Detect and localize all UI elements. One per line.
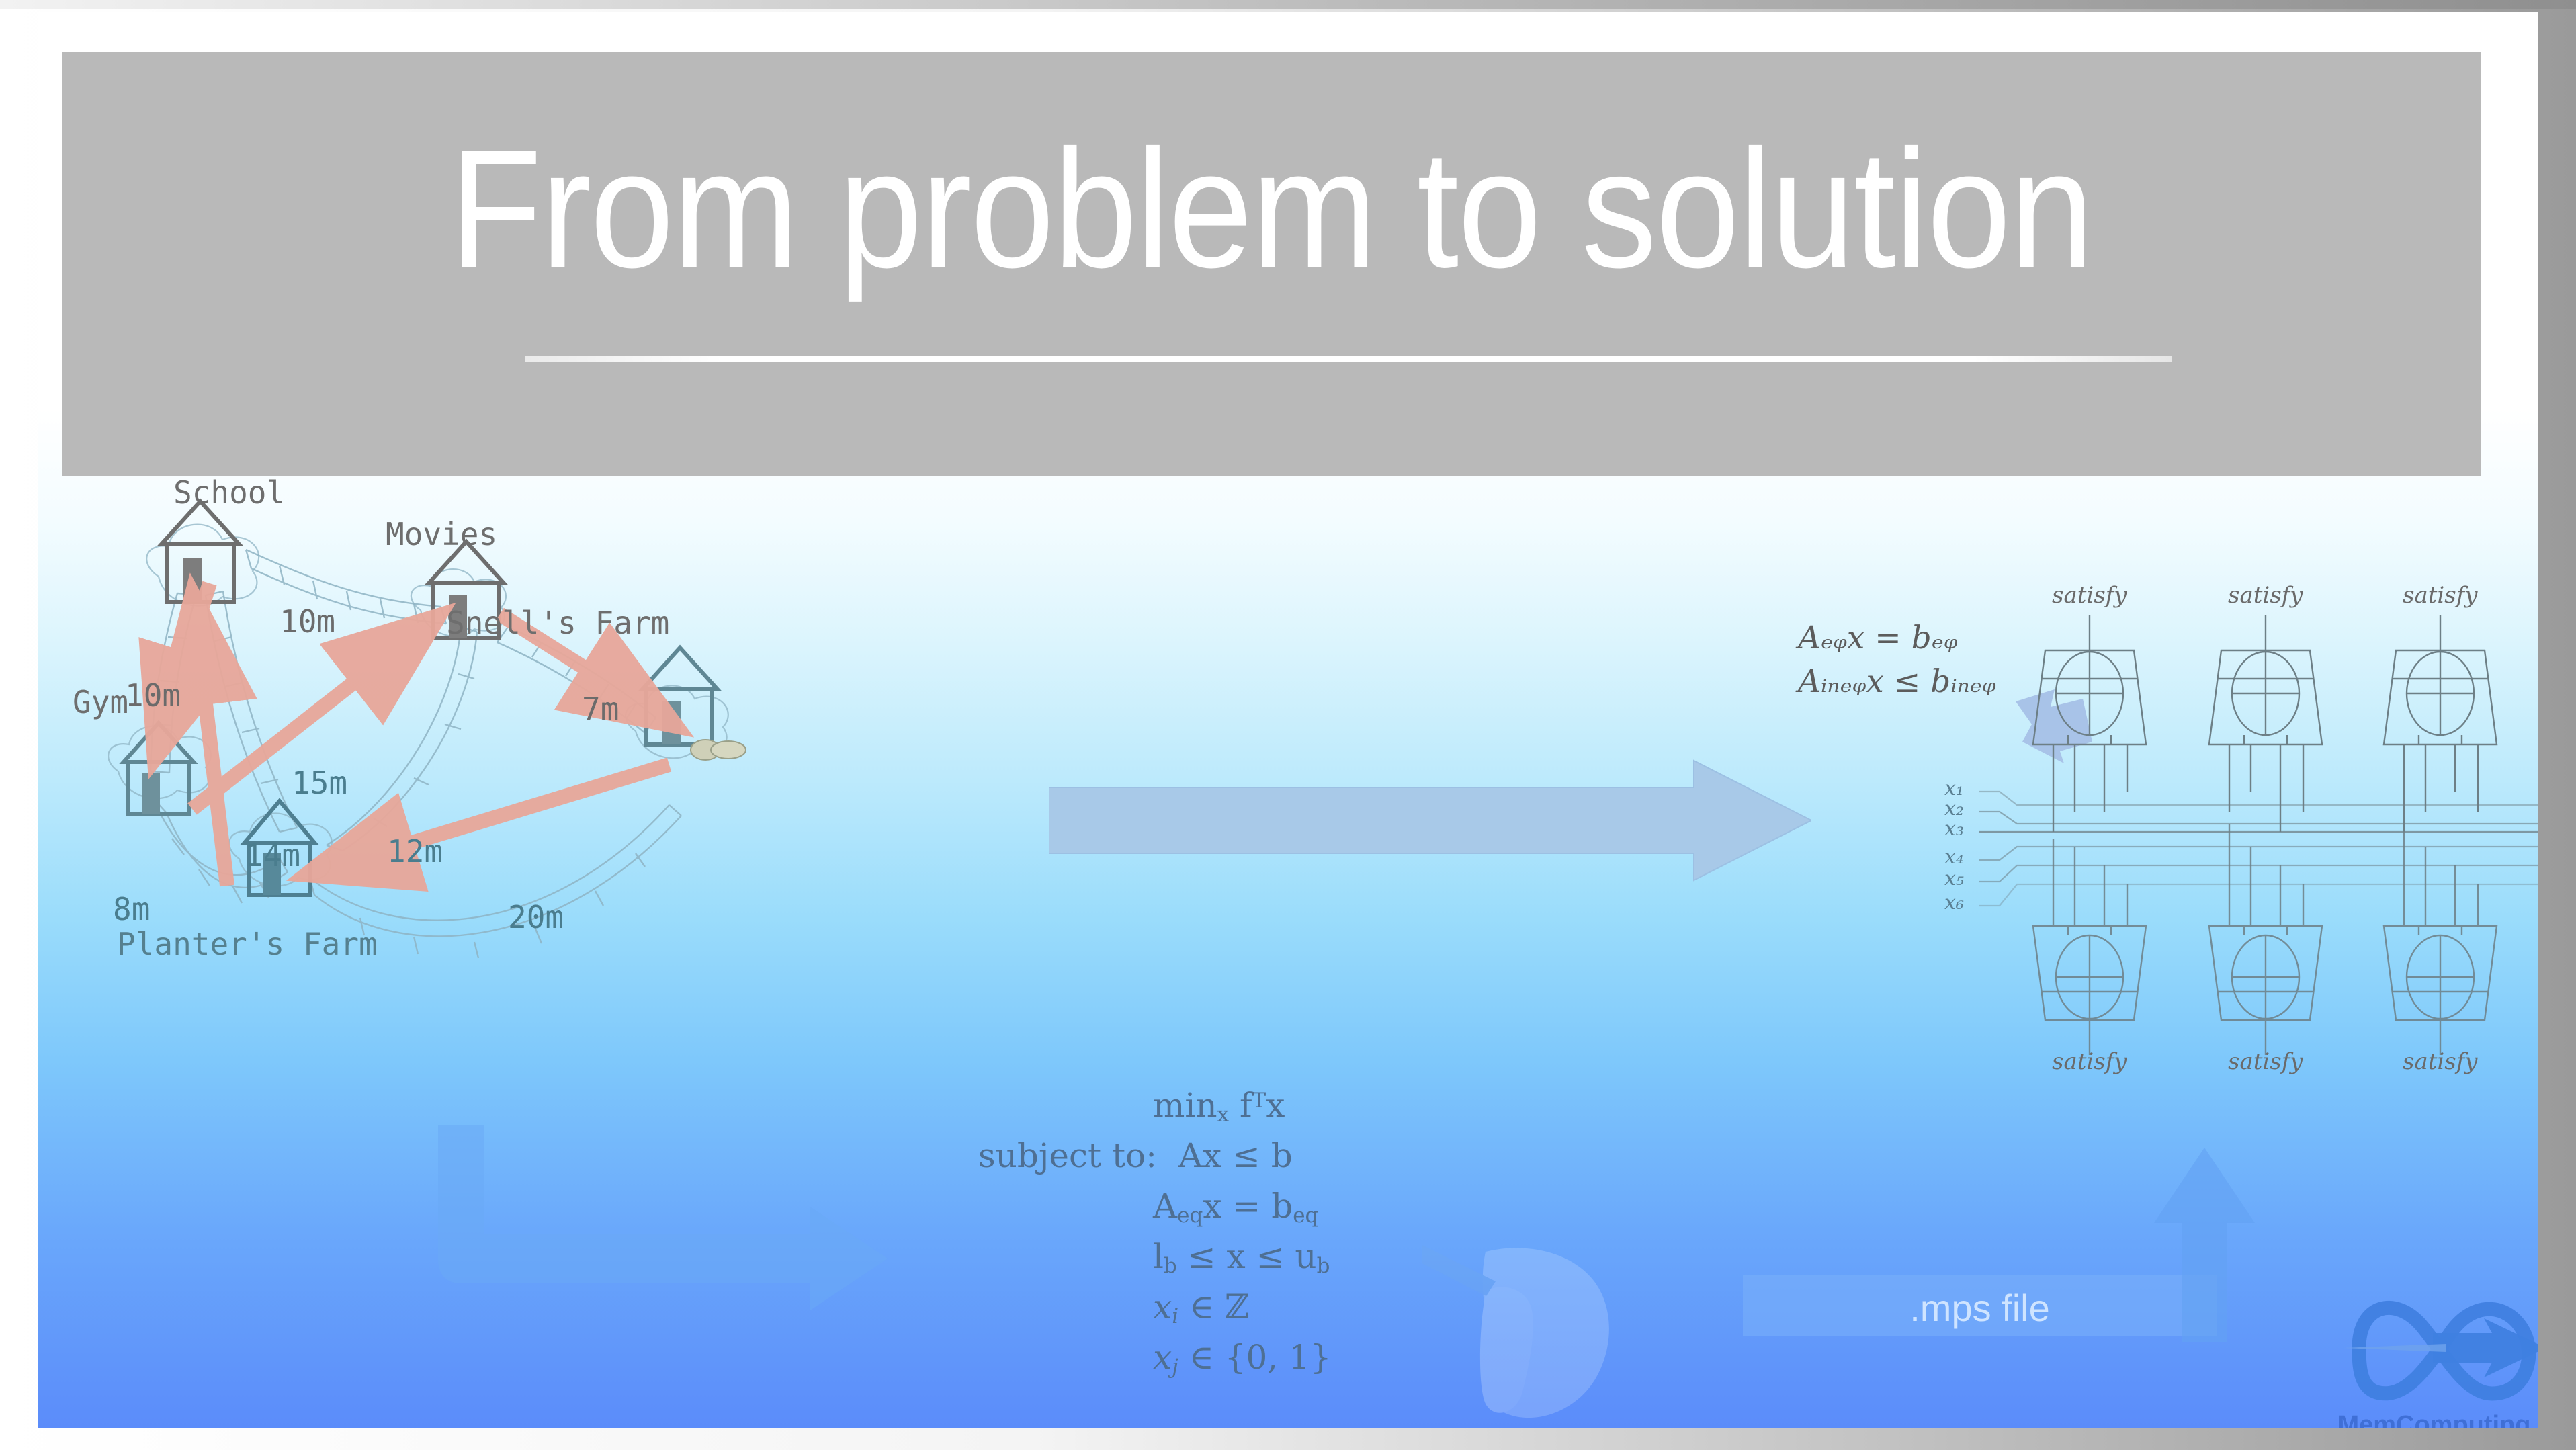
title-banner: From problem to solution bbox=[62, 52, 2481, 476]
milp-constraint-1: subject to: Ax ≤ b bbox=[978, 1131, 1489, 1181]
gate-label-satisfy-bottom-3: satisfy bbox=[2403, 1048, 2478, 1075]
variable-label-x5: x₅ bbox=[1944, 867, 1964, 890]
routing-graph-diagram: School Movies Snell's Farm Gym Planter's… bbox=[78, 482, 1126, 1080]
title-underline bbox=[525, 356, 2172, 362]
milp-constraint-2: Aeqx = beq bbox=[978, 1181, 1489, 1232]
arrow-up-to-solver bbox=[2147, 1148, 2262, 1342]
gate-label-satisfy-top-2: satisfy bbox=[2228, 582, 2303, 609]
edge-weight-movies-planters: 12m bbox=[387, 833, 443, 869]
page-title: From problem to solution bbox=[183, 125, 2360, 293]
solg-circuit-diagram: satisfy satisfy satisfy satisfy satisfy … bbox=[1966, 610, 2538, 1080]
edge-weight-gym-school: 10m bbox=[125, 677, 181, 714]
node-label-planters: Planter's Farm bbox=[117, 926, 378, 962]
mps-file-bar: .mps file bbox=[1743, 1275, 2217, 1336]
memcomputing-logo: ® bbox=[2332, 1269, 2538, 1423]
mps-file-label: .mps file bbox=[1743, 1286, 2217, 1330]
feedback-arrow-elbow bbox=[434, 1121, 891, 1322]
presentation-slide: From problem to solution bbox=[38, 12, 2538, 1428]
edge-weight-school-movies: 10m bbox=[280, 603, 335, 640]
node-label-school: School bbox=[173, 474, 285, 511]
screenshot-frame: From problem to solution bbox=[0, 0, 2576, 1450]
milp-constraint-4: xi ∈ ℤ bbox=[978, 1282, 1489, 1332]
edge-weight-gym-planters: 8m bbox=[113, 891, 150, 927]
company-name: MemComputing Inc. bbox=[2319, 1411, 2538, 1428]
milp-constraint-3: lb ≤ x ≤ ub bbox=[978, 1232, 1489, 1282]
gate-label-satisfy-top-3: satisfy bbox=[2403, 582, 2478, 609]
gate-label-satisfy-bottom-1: satisfy bbox=[2052, 1048, 2127, 1075]
transform-arrow-right bbox=[1049, 757, 1811, 884]
graph-svg bbox=[78, 482, 1126, 1080]
hand-with-stylus-image bbox=[1422, 1211, 1643, 1428]
edge-weight-school-planters: 14m bbox=[245, 837, 300, 873]
node-label-gym: Gym bbox=[73, 684, 128, 720]
circuit-svg bbox=[1966, 610, 2538, 1080]
edge-weight-movies-snells: 7m bbox=[582, 691, 619, 727]
node-label-movies: Movies bbox=[386, 516, 497, 552]
milp-formulation: minx fTx subject to: Ax ≤ b Aeqx = beq l… bbox=[978, 1080, 1489, 1383]
edge-weight-gym-movies: 15m bbox=[292, 765, 347, 801]
variable-label-x3: x₃ bbox=[1944, 817, 1964, 841]
node-label-snells: Snell's Farm bbox=[446, 605, 669, 641]
milp-constraint-5: xj ∈ {0, 1} bbox=[978, 1332, 1489, 1383]
edge-weight-planters-snells: 20m bbox=[508, 899, 564, 935]
variable-label-x6: x₆ bbox=[1944, 891, 1964, 914]
variable-label-x4: x₄ bbox=[1944, 845, 1964, 869]
gate-label-satisfy-bottom-2: satisfy bbox=[2228, 1048, 2303, 1075]
gate-label-satisfy-top-1: satisfy bbox=[2052, 582, 2127, 609]
milp-objective: minx fTx bbox=[978, 1080, 1489, 1131]
